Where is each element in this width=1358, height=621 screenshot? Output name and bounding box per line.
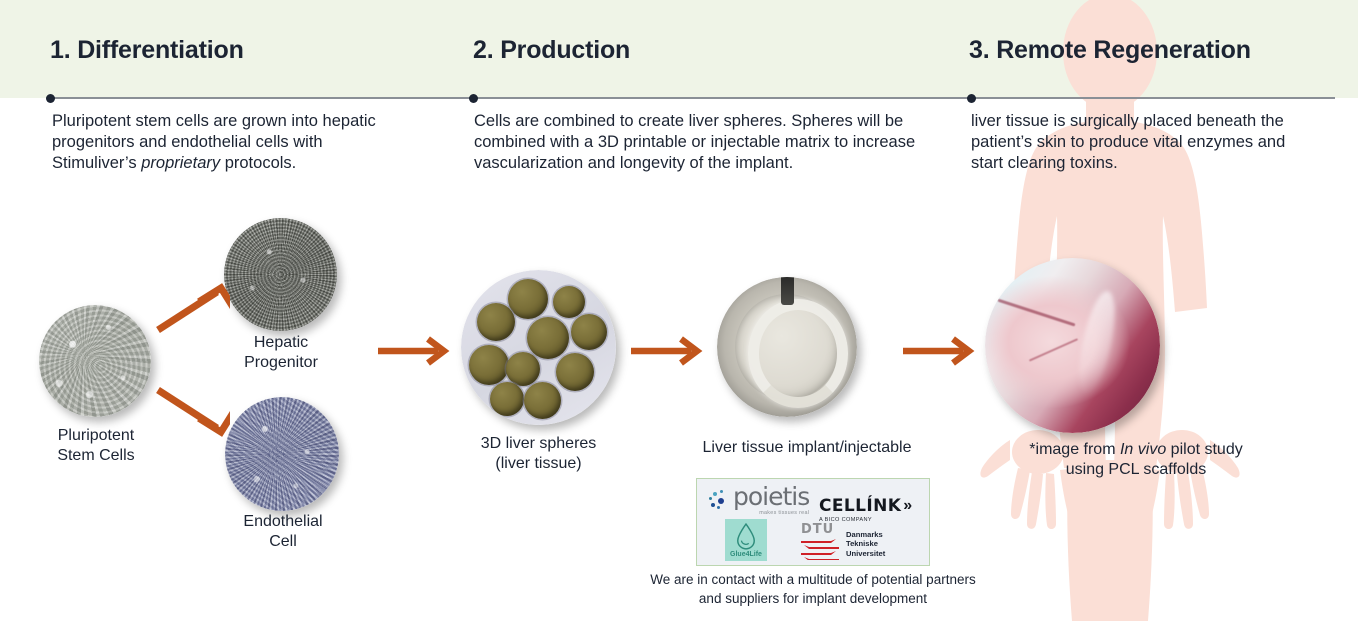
dtu-full-name: Danmarks Tekniske Universitet [846, 530, 885, 558]
logo-cellink: CELLÍNK » A BICO COMPANY [819, 496, 912, 523]
pluripotent-stem-cells-image [39, 305, 151, 417]
liver-spheres-image [461, 270, 616, 425]
glue4life-wordmark: Glue4Life [730, 551, 762, 558]
column-3-title: 3. Remote Regeneration [969, 36, 1251, 65]
pluripotent-stem-cells-label: Pluripotent Stem Cells [25, 426, 167, 466]
column-1-body-post: protocols. [220, 154, 296, 172]
timeline-dot-2 [469, 94, 478, 103]
in-vivo-caption-pre: *image from [1029, 441, 1120, 458]
timeline-divider [50, 97, 1335, 99]
arrow-differentiation-to-production [378, 334, 452, 368]
column-2-body: Cells are combined to create liver spher… [474, 111, 924, 174]
dtu-arrows-icon [801, 538, 839, 560]
poietis-dots-icon [709, 489, 731, 511]
in-vivo-implant-image [985, 258, 1160, 433]
logo-dtu: DTU Danmarks Tekniske Universitet [801, 523, 885, 565]
cellink-chevron-icon: » [903, 499, 912, 513]
column-1-title: 1. Differentiation [50, 36, 244, 65]
arrow-production-to-regeneration [903, 334, 977, 368]
column-2-title: 2. Production [473, 36, 630, 65]
arrow-spheres-to-implant [631, 334, 705, 368]
cellink-wordmark: CELLÍNK [819, 496, 901, 516]
liver-spheres-label: 3D liver spheres (liver tissue) [452, 434, 625, 474]
in-vivo-image-caption: *image from In vivo pilot study using PC… [1016, 440, 1256, 480]
timeline-dot-1 [46, 94, 55, 103]
water-drop-icon [735, 522, 757, 550]
partners-note: We are in contact with a multitude of po… [650, 570, 976, 608]
timeline-dot-3 [967, 94, 976, 103]
arrow-psc-to-hepatic [155, 282, 230, 334]
hepatic-progenitor-label: Hepatic Progenitor [209, 333, 353, 373]
in-vivo-caption-emphasis: In vivo [1120, 441, 1166, 458]
endothelial-cell-label: Endothelial Cell [210, 512, 356, 552]
partner-logos-box: poietis makes tissues real CELLÍNK » A B… [696, 478, 930, 566]
hepatic-progenitor-image [224, 218, 337, 331]
column-1-body: Pluripotent stem cells are grown into he… [52, 111, 397, 174]
column-3-body: liver tissue is surgically placed beneat… [971, 111, 1321, 174]
logo-poietis: poietis makes tissues real [709, 485, 809, 516]
arrow-psc-to-endothelial [155, 386, 230, 438]
liver-tissue-implant-image [717, 277, 857, 417]
endothelial-cell-image [225, 397, 339, 511]
liver-tissue-implant-label: Liver tissue implant/injectable [672, 438, 942, 458]
logo-glue4life: Glue4Life [725, 519, 767, 561]
column-1-body-emphasis: proprietary [141, 154, 220, 172]
poietis-wordmark: poietis [733, 485, 809, 509]
dtu-wordmark: DTU [801, 523, 839, 536]
